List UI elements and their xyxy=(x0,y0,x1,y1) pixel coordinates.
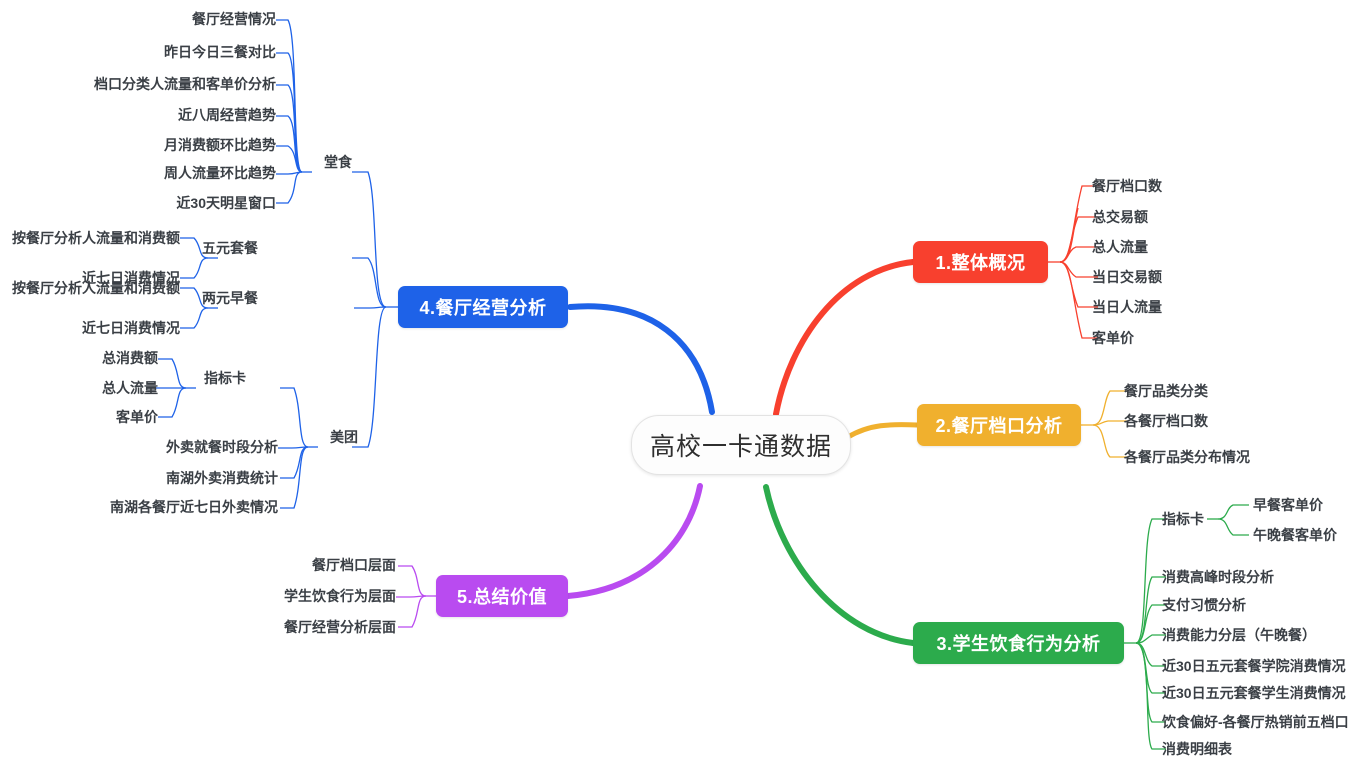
leaf-overview-5[interactable]: 客单价 xyxy=(1092,329,1134,347)
leaf-meituan-kpi[interactable]: 指标卡 xyxy=(160,369,246,387)
leaf-overview-0[interactable]: 餐厅档口数 xyxy=(1092,177,1162,195)
leaf-overview-3[interactable]: 当日交易额 xyxy=(1092,268,1162,286)
leaf-meituan-1[interactable]: 外卖就餐时段分析 xyxy=(50,438,278,456)
leaf-overview-1[interactable]: 总交易额 xyxy=(1092,208,1148,226)
branch-node-stalls[interactable]: 2.餐厅档口分析 xyxy=(917,404,1081,446)
root-node[interactable]: 高校一卡通数据 xyxy=(631,415,851,475)
branch-label-restaurant-ops: 4.餐厅经营分析 xyxy=(419,294,546,320)
root-label: 高校一卡通数据 xyxy=(650,427,832,463)
leaf-student-behavior-4[interactable]: 近30日五元套餐学院消费情况 xyxy=(1162,657,1346,675)
leaf-summary-2[interactable]: 餐厅经营分析层面 xyxy=(220,618,396,636)
leaf-dinein-5[interactable]: 周人流量环比趋势 xyxy=(36,164,276,182)
leaf-set5-0[interactable]: 按餐厅分析人流量和消费额 xyxy=(0,229,180,247)
leaf-student-behavior-0[interactable]: 指标卡 xyxy=(1162,510,1204,528)
branch-node-overview[interactable]: 1.整体概况 xyxy=(913,241,1048,283)
leaf-overview-4[interactable]: 当日人流量 xyxy=(1092,298,1162,316)
mindmap-canvas: 高校一卡通数据 1.整体概况 2.餐厅档口分析 3.学生饮食行为分析 4.餐厅经… xyxy=(0,0,1357,775)
leaf-restaurant-ops-meituan[interactable]: 美团 xyxy=(268,428,358,446)
leaf-breakfast2-0[interactable]: 按餐厅分析人流量和消费额 xyxy=(0,279,180,297)
leaf-meituan-kpi-2[interactable]: 客单价 xyxy=(40,408,158,426)
branch-label-overview: 1.整体概况 xyxy=(935,249,1025,275)
leaf-student-behavior-7[interactable]: 消费明细表 xyxy=(1162,740,1232,758)
leaf-dinein-0[interactable]: 餐厅经营情况 xyxy=(36,10,276,28)
leaf-student-behavior-0-1[interactable]: 午晚餐客单价 xyxy=(1253,526,1337,544)
leaf-meituan-kpi-0[interactable]: 总消费额 xyxy=(40,349,158,367)
summary-connectors xyxy=(396,566,436,627)
branch-node-student-behavior[interactable]: 3.学生饮食行为分析 xyxy=(913,622,1124,664)
stalls-connectors xyxy=(1081,391,1128,457)
branch-node-summary[interactable]: 5.总结价值 xyxy=(436,575,568,617)
leaf-student-behavior-3[interactable]: 消费能力分层（午晚餐） xyxy=(1162,626,1316,644)
branch-label-student-behavior: 3.学生饮食行为分析 xyxy=(936,630,1100,656)
leaf-summary-0[interactable]: 餐厅档口层面 xyxy=(220,556,396,574)
trunk-to-overview xyxy=(776,262,913,414)
leaf-stalls-1[interactable]: 各餐厅档口数 xyxy=(1124,412,1208,430)
trunk-to-summary xyxy=(568,486,700,596)
leaf-student-behavior-5[interactable]: 近30日五元套餐学生消费情况 xyxy=(1162,684,1346,702)
leaf-student-behavior-2[interactable]: 支付习惯分析 xyxy=(1162,596,1246,614)
leaf-meituan-3[interactable]: 南湖各餐厅近七日外卖情况 xyxy=(50,498,278,516)
trunk-to-stalls xyxy=(848,425,917,437)
trunk-to-restaurant-ops xyxy=(570,306,712,412)
leaf-dinein-2[interactable]: 档口分类人流量和客单价分析 xyxy=(36,75,276,93)
leaf-student-behavior-1[interactable]: 消费高峰时段分析 xyxy=(1162,568,1274,586)
leaf-dinein-3[interactable]: 近八周经营趋势 xyxy=(36,106,276,124)
leaf-summary-1[interactable]: 学生饮食行为层面 xyxy=(220,587,396,605)
leaf-meituan-2[interactable]: 南湖外卖消费统计 xyxy=(50,469,278,487)
branch-label-stalls: 2.餐厅档口分析 xyxy=(935,412,1062,438)
leaf-dinein-4[interactable]: 月消费额环比趋势 xyxy=(36,136,276,154)
leaf-overview-2[interactable]: 总人流量 xyxy=(1092,238,1148,256)
branch-label-summary: 5.总结价值 xyxy=(457,583,547,609)
leaf-dinein-1[interactable]: 昨日今日三餐对比 xyxy=(36,43,276,61)
leaf-dinein-6[interactable]: 近30天明星窗口 xyxy=(36,194,276,212)
leaf-stalls-2[interactable]: 各餐厅品类分布情况 xyxy=(1124,448,1250,466)
leaf-student-behavior-6[interactable]: 饮食偏好-各餐厅热销前五档口 xyxy=(1162,713,1349,731)
leaf-student-behavior-0-0[interactable]: 早餐客单价 xyxy=(1253,496,1323,514)
branch-node-restaurant-ops[interactable]: 4.餐厅经营分析 xyxy=(398,286,568,328)
leaf-breakfast2-1[interactable]: 近七日消费情况 xyxy=(0,319,180,337)
leaf-meituan-kpi-1[interactable]: 总人流量 xyxy=(40,379,158,397)
leaf-stalls-0[interactable]: 餐厅品类分类 xyxy=(1124,382,1208,400)
trunk-to-student-behavior xyxy=(766,487,913,643)
